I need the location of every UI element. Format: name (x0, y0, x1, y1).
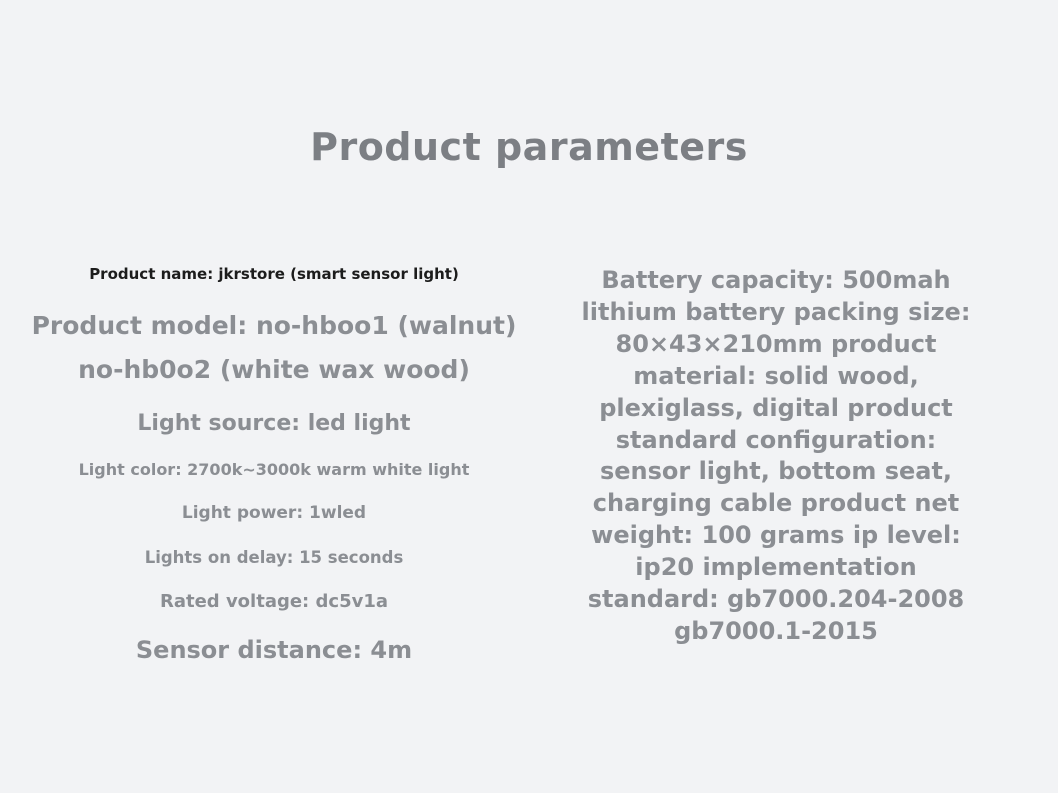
param-net-weight-ip-level: weight: 100 grams ip level: (546, 520, 1006, 552)
spacer (20, 450, 528, 460)
spacer (20, 537, 528, 547)
param-material-line2: plexiglass, digital product (546, 393, 1006, 425)
right-parameter-column: Battery capacity: 500mah lithium battery… (546, 265, 1006, 648)
param-standard-line2: gb7000.1-2015 (546, 616, 1006, 648)
page-title: Product parameters (0, 125, 1058, 169)
param-product-name: Product name: jkrstore (smart sensor lig… (20, 265, 528, 284)
spacer (20, 398, 528, 410)
spacer (20, 296, 528, 310)
param-rated-voltage: Rated voltage: dc5v1a (20, 590, 528, 613)
param-configuration-line1: sensor light, bottom seat, (546, 456, 1006, 488)
param-sensor-distance: Sensor distance: 4m (20, 635, 528, 666)
param-light-power: Light power: 1wled (20, 503, 528, 525)
spacer (20, 625, 528, 635)
param-light-source: Light source: led light (20, 410, 528, 438)
param-battery-capacity: Battery capacity: 500mah (546, 265, 1006, 297)
param-packing-size-value: 80×43×210mm product (546, 329, 1006, 361)
product-parameters-page: Product parameters Product name: jkrstor… (0, 0, 1058, 793)
param-configuration-line2: charging cable product net (546, 488, 1006, 520)
param-material-line1: material: solid wood, (546, 361, 1006, 393)
param-product-model-line2: no-hb0o2 (white wax wood) (20, 354, 528, 386)
spacer (20, 580, 528, 590)
param-light-color: Light color: 2700k~3000k warm white ligh… (20, 460, 528, 480)
param-lights-on-delay: Lights on delay: 15 seconds (20, 547, 528, 568)
param-product-model-line1: Product model: no-hboo1 (walnut) (20, 310, 528, 342)
left-parameter-column: Product name: jkrstore (smart sensor lig… (20, 265, 528, 677)
spacer (20, 493, 528, 503)
param-standard-configuration-label: standard configuration: (546, 425, 1006, 457)
param-ip20-implementation: ip20 implementation (546, 552, 1006, 584)
param-packing-size-label: lithium battery packing size: (546, 297, 1006, 329)
param-standard-line1: standard: gb7000.204-2008 (546, 584, 1006, 616)
